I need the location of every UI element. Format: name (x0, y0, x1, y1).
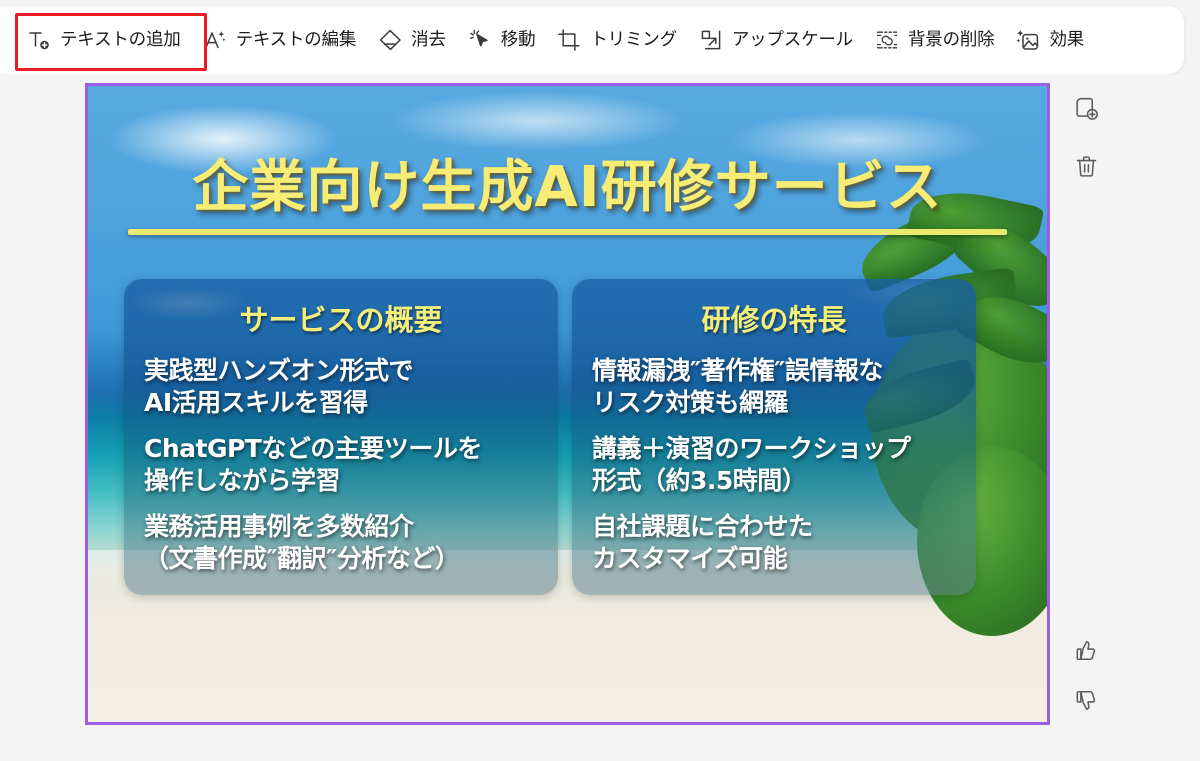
card-bullet: 情報漏洩″著作権″誤情報な リスク対策も網羅 (592, 355, 956, 419)
eraser-icon (378, 28, 402, 52)
title-underline (128, 229, 1007, 235)
tool-move[interactable]: 移動 (457, 20, 547, 60)
card-heading: サービスの概要 (144, 297, 538, 339)
tool-erase[interactable]: 消去 (367, 20, 457, 60)
bullet-line: 形式（約3.5時間） (592, 465, 956, 497)
tool-crop[interactable]: トリミング (546, 20, 688, 60)
tool-label: テキストの追加 (60, 31, 181, 49)
bullet-line: 実践型ハンズオン形式で (144, 355, 538, 387)
tool-edit-text[interactable]: テキストの編集 (192, 20, 368, 60)
canvas-area: 企業向け生成AI研修サービス サービスの概要 実践型ハンズオン形式で AI活用ス… (0, 74, 1200, 761)
card-service-overview: サービスの概要 実践型ハンズオン形式で AI活用スキルを習得 ChatGPTなど… (124, 279, 558, 595)
card-bullet: 講義＋演習のワークショップ 形式（約3.5時間） (592, 433, 956, 497)
image-action-rail (1062, 74, 1122, 761)
tool-effects[interactable]: 効果 (1005, 20, 1095, 60)
tool-add-text[interactable]: テキストの追加 (16, 20, 192, 60)
delete-image-button[interactable] (1066, 146, 1106, 186)
slide-title: 企業向け生成AI研修サービス (88, 142, 1047, 223)
trash-icon (1074, 154, 1099, 179)
selected-image[interactable]: 企業向け生成AI研修サービス サービスの概要 実践型ハンズオン形式で AI活用ス… (85, 83, 1050, 725)
thumbs-down-icon (1074, 688, 1099, 713)
card-bullet: ChatGPTなどの主要ツールを 操作しながら学習 (144, 433, 538, 497)
tool-remove-background[interactable]: 背景の削除 (864, 20, 1006, 60)
duplicate-add-icon (1074, 96, 1099, 121)
tool-upscale[interactable]: アップスケール (688, 20, 864, 60)
thumbs-up-button[interactable] (1066, 630, 1106, 670)
tool-label: 背景の削除 (908, 31, 995, 49)
crop-icon (557, 28, 581, 52)
card-bullet: 自社課題に合わせた カスタマイズ可能 (592, 511, 956, 575)
bullet-line: 情報漏洩″著作権″誤情報な (592, 355, 956, 387)
tool-label: 効果 (1049, 31, 1084, 49)
image-sparkle-icon (1016, 28, 1040, 52)
bullet-line: 講義＋演習のワークショップ (592, 433, 956, 465)
card-training-features: 研修の特長 情報漏洩″著作権″誤情報な リスク対策も網羅 講義＋演習のワークショ… (572, 279, 976, 595)
card-heading: 研修の特長 (592, 297, 956, 339)
duplicate-image-button[interactable] (1066, 88, 1106, 128)
bullet-line: カスタマイズ可能 (592, 543, 956, 575)
text-add-icon (27, 28, 51, 52)
tool-label: 消去 (411, 31, 446, 49)
tool-label: アップスケール (732, 31, 853, 49)
bullet-line: 業務活用事例を多数紹介 (144, 511, 538, 543)
remove-bg-icon (875, 28, 899, 52)
bullet-line: 操作しながら学習 (144, 465, 538, 497)
card-bullet: 業務活用事例を多数紹介 （文書作成″翻訳″分析など） (144, 511, 538, 575)
cursor-magic-icon (468, 28, 492, 52)
editor-toolbar: テキストの追加 テキストの編集 消去 (0, 6, 1184, 74)
image-editor-app: テキストの追加 テキストの編集 消去 (0, 0, 1200, 761)
text-edit-magic-icon (203, 28, 227, 52)
bullet-line: AI活用スキルを習得 (144, 387, 538, 419)
bullet-line: リスク対策も網羅 (592, 387, 956, 419)
bullet-line: ChatGPTなどの主要ツールを (144, 433, 538, 465)
tool-label: テキストの編集 (236, 31, 357, 49)
thumbs-down-button[interactable] (1066, 680, 1106, 720)
tool-label: トリミング (590, 31, 677, 49)
upscale-icon (699, 28, 723, 52)
thumbs-up-icon (1074, 638, 1099, 663)
bullet-line: 自社課題に合わせた (592, 511, 956, 543)
tool-label: 移動 (501, 31, 536, 49)
slide-cards: サービスの概要 実践型ハンズオン形式で AI活用スキルを習得 ChatGPTなど… (124, 279, 1027, 595)
card-bullet: 実践型ハンズオン形式で AI活用スキルを習得 (144, 355, 538, 419)
bullet-line: （文書作成″翻訳″分析など） (144, 543, 538, 575)
